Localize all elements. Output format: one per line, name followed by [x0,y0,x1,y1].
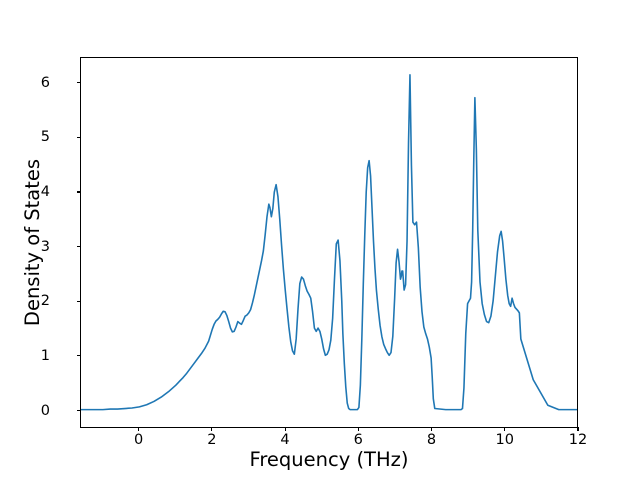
x-tick-mark [138,427,139,431]
y-tick-label: 2 [10,294,50,308]
plot-area [80,57,578,428]
x-tick-label: 6 [338,433,378,448]
x-tick-mark [431,427,432,431]
y-tick-label: 4 [10,185,50,199]
x-tick-mark [358,427,359,431]
x-tick-label: 2 [192,433,232,448]
y-tick-label: 6 [10,76,50,90]
dos-figure: Density of States 0123456 024681012 Freq… [0,0,640,480]
dos-curve-svg [81,58,577,427]
y-tick-label: 1 [10,349,50,363]
x-tick-mark [211,427,212,431]
x-tick-label: 12 [558,433,598,448]
x-axis-label: Frequency (THz) [80,448,578,471]
x-tick-label: 0 [119,433,159,448]
y-tick-label: 3 [10,240,50,254]
x-tick-mark [285,427,286,431]
dos-curve-line [81,75,577,410]
x-tick-label: 8 [412,433,452,448]
x-tick-label: 10 [485,433,525,448]
y-tick-label: 0 [10,404,50,418]
x-tick-mark [577,427,578,431]
x-tick-label: 4 [265,433,305,448]
x-tick-mark [504,427,505,431]
y-tick-label: 5 [10,130,50,144]
